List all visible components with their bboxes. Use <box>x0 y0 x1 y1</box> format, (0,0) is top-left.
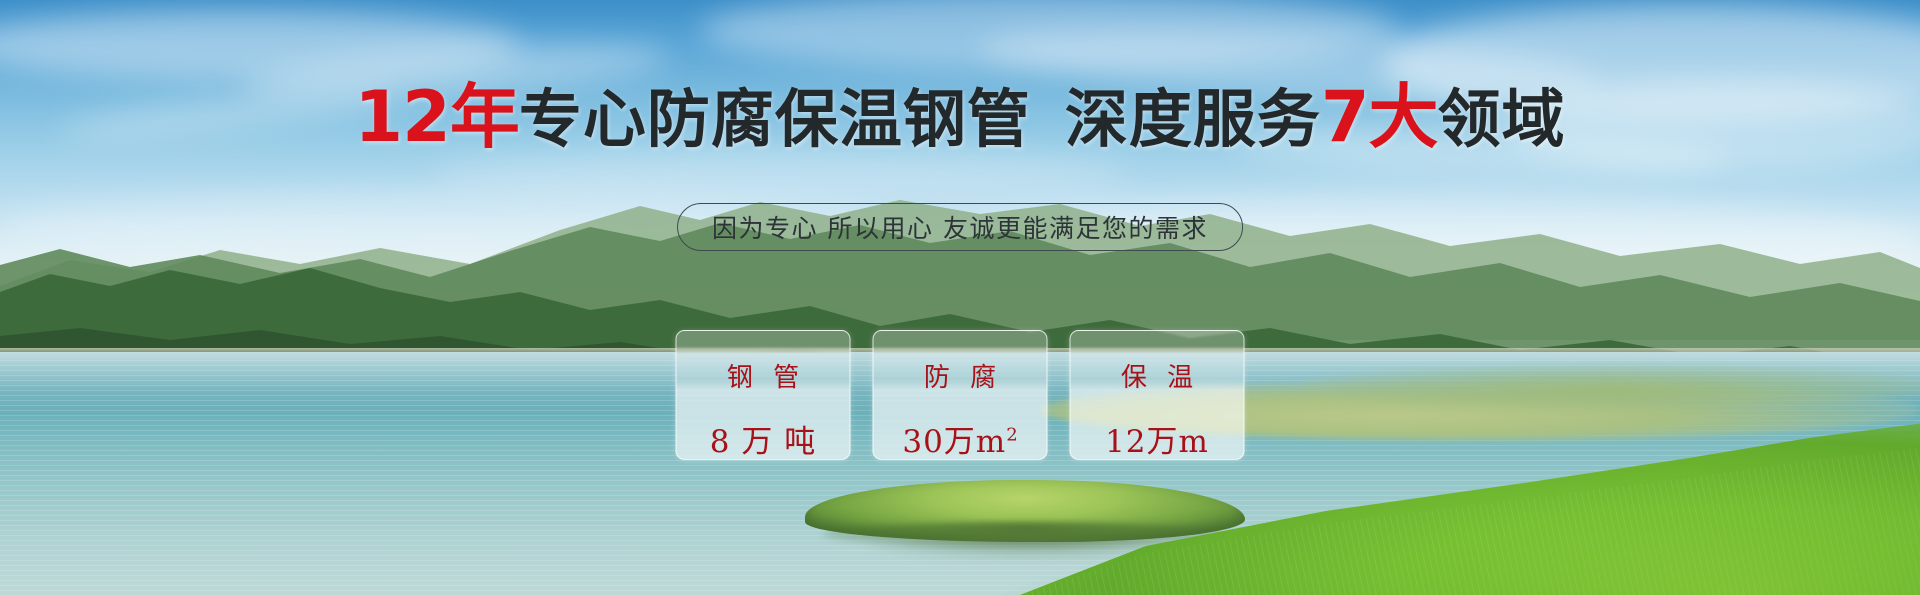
marsh-bank-far <box>1300 365 1920 407</box>
stat-card-label: 保 温 <box>1115 357 1199 394</box>
headline-fields-text: 领域 <box>1438 83 1566 156</box>
headline-service-text: 深度服务 <box>1065 83 1321 156</box>
stat-card-steel-pipe[interactable]: 钢 管 8 万 吨 <box>676 330 851 460</box>
stat-cards: 钢 管 8 万 吨 防 腐 30万m2 保 温 12万m <box>676 330 1245 460</box>
subtitle-text: 因为专心 所以用心 友诚更能满足您的需求 <box>712 209 1208 245</box>
stat-card-anticorrosion[interactable]: 防 腐 30万m2 <box>873 330 1048 460</box>
subtitle-pill: 因为专心 所以用心 友诚更能满足您的需求 <box>677 203 1243 251</box>
stat-card-value: 8 万 吨 <box>710 416 816 461</box>
headline-fields-highlight: 7大 <box>1321 76 1438 158</box>
stat-card-insulation[interactable]: 保 温 12万m <box>1070 330 1245 460</box>
headline-main-text: 专心防腐保温钢管 <box>519 83 1031 156</box>
stat-card-value: 12万m <box>1105 416 1209 461</box>
stat-card-value-superscript: 2 <box>1006 425 1017 446</box>
headline-years-highlight: 12年 <box>354 76 518 158</box>
stat-card-label: 钢 管 <box>721 357 805 394</box>
headline: 12年专心防腐保温钢管深度服务7大领域 <box>0 80 1920 157</box>
stat-card-label: 防 腐 <box>918 357 1002 394</box>
stat-card-value: 30万m2 <box>902 416 1017 461</box>
promo-banner: 12年专心防腐保温钢管深度服务7大领域 因为专心 所以用心 友诚更能满足您的需求… <box>0 0 1920 595</box>
